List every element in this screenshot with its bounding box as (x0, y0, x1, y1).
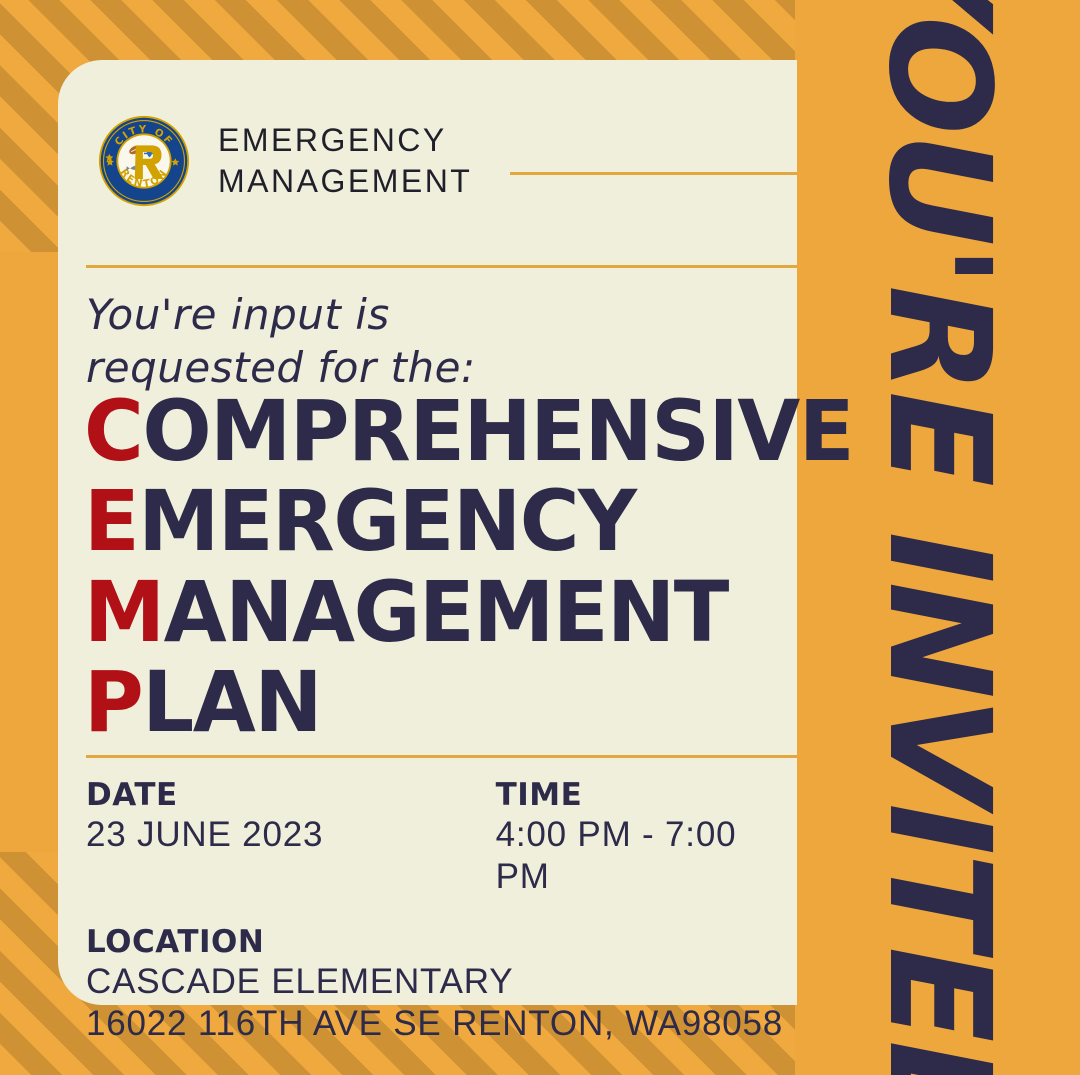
date-label: DATE (86, 778, 496, 814)
time-block: TIME 4:00 PM - 7:00 PM (496, 778, 797, 899)
invitation-card: CITY OF RENTON (58, 60, 797, 1005)
event-details: DATE 23 JUNE 2023 TIME 4:00 PM - 7:00 PM… (86, 778, 797, 1046)
date-value: 23 JUNE 2023 (86, 814, 496, 857)
title-rest-comprehensive: OMPREHENSIVE (142, 382, 853, 480)
card-header: CITY OF RENTON (98, 115, 798, 207)
youre-invited-vertical-text: YOU'RE INVITED (868, 0, 1008, 1075)
title-initial-p: P (84, 653, 142, 751)
title-rest-emergency: MERGENCY (138, 472, 635, 570)
title-initial-e: E (84, 472, 138, 570)
intro-text: You're input is requested for the: (86, 288, 476, 395)
location-value: CASCADE ELEMENTARY 16022 116TH AVE SE RE… (86, 961, 797, 1046)
location-block: LOCATION CASCADE ELEMENTARY 16022 116TH … (86, 925, 797, 1046)
time-label: TIME (496, 778, 797, 814)
location-label: LOCATION (86, 925, 797, 961)
divider-header (510, 172, 797, 175)
date-time-row: DATE 23 JUNE 2023 TIME 4:00 PM - 7:00 PM (86, 778, 797, 899)
org-name-label: EMERGENCY MANAGEMENT (218, 120, 472, 202)
title-line-emergency: EMERGENCY (84, 480, 860, 562)
flyer-canvas: YOU'RE INVITED CITY OF RENTON (0, 0, 1080, 1075)
city-of-renton-seal-icon: CITY OF RENTON (98, 115, 190, 207)
title-rest-plan: LAN (142, 653, 321, 751)
title-line-plan: PLAN (84, 661, 860, 743)
title-line-comprehensive: COMPREHENSIVE (84, 390, 860, 472)
divider-upper (86, 265, 797, 268)
title-rest-management: ANAGEMENT (164, 563, 728, 661)
divider-lower (86, 755, 797, 758)
title-initial-c: C (84, 382, 142, 480)
date-block: DATE 23 JUNE 2023 (86, 778, 496, 899)
time-value: 4:00 PM - 7:00 PM (496, 814, 797, 899)
title-initial-m: M (84, 563, 164, 661)
event-title-block: COMPREHENSIVE EMERGENCY MANAGEMENT PLAN (84, 390, 884, 751)
title-line-management: MANAGEMENT (84, 571, 860, 653)
